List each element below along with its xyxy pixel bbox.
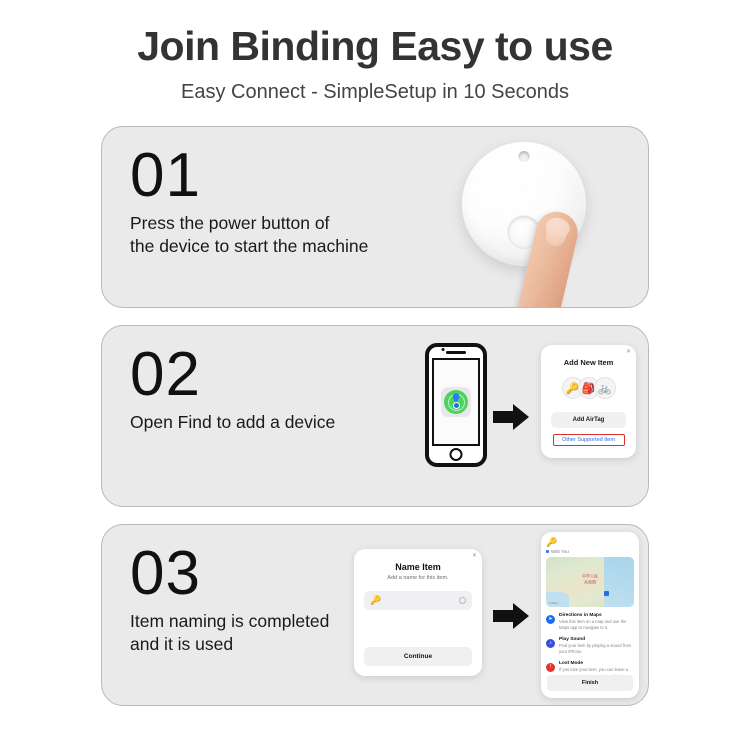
front-camera-icon — [442, 348, 445, 351]
page-title: Join Binding Easy to use — [0, 24, 750, 69]
step-card-03: 03 Item naming is completed and it is us… — [101, 524, 649, 706]
step-description: Press the power button of the device to … — [130, 212, 430, 258]
key-icon: 🔑 — [546, 538, 634, 547]
step-number: 01 — [130, 143, 430, 208]
find-app-illustration: ✕ Add New Item 🔑 🎒 🚲 Add AirTag Other Su… — [419, 326, 644, 507]
fingernail — [544, 220, 569, 248]
item-type-icons: 🔑 🎒 🚲 — [549, 377, 628, 399]
finish-button[interactable]: Finish — [547, 675, 633, 691]
item-detail-panel: 🔑 With You 中华人民 共和国 1000km ➤ Directions … — [541, 532, 639, 698]
phone-screen — [432, 358, 480, 446]
close-icon[interactable]: ✕ — [626, 349, 631, 355]
feature-name: Lost Mode — [559, 661, 634, 666]
name-item-dialog: ✕ Name Item Add a name for this item. 🔑 … — [354, 549, 482, 676]
dialog-title: Add New Item — [549, 358, 628, 367]
continue-button[interactable]: Continue — [364, 647, 472, 666]
tracker-illustration — [442, 127, 642, 308]
radar-graphic — [444, 390, 468, 414]
add-airtag-button[interactable]: Add AirTag — [551, 412, 626, 428]
tracker-gloss — [480, 152, 552, 194]
bicycle-icon: 🚲 — [594, 377, 616, 399]
map-preview[interactable]: 中华人民 共和国 1000km — [546, 557, 634, 607]
home-button-icon[interactable] — [450, 448, 463, 461]
feature-name: Play Sound — [559, 637, 634, 642]
play-sound-icon: ♪ — [546, 639, 555, 648]
page-header: Join Binding Easy to use Easy Connect - … — [0, 0, 750, 104]
step-card-01-text: 01 Press the power button of the device … — [130, 143, 430, 258]
status-dot-icon — [546, 550, 549, 553]
dialog-subtitle: Add a name for this item. — [364, 575, 472, 581]
map-sea — [604, 557, 634, 607]
step-card-02-text: 02 Open Find to add a device — [130, 342, 430, 434]
feature-name: Directions in Maps — [559, 613, 634, 618]
map-scale-label: 1000km — [549, 602, 558, 605]
feature-description: Find your item by playing a sound from y… — [559, 643, 634, 655]
lost-mode-icon: ! — [546, 663, 555, 672]
step-card-01: 01 Press the power button of the device … — [101, 126, 649, 308]
status-label: With You — [551, 549, 569, 554]
feature-row-play-sound[interactable]: ♪ Play Sound Find your item by playing a… — [546, 637, 634, 655]
clear-circle-icon[interactable] — [459, 597, 466, 604]
tracker-keyring-hole-icon — [519, 151, 530, 162]
iphone-mockup — [425, 343, 487, 467]
key-icon: 🔑 — [370, 595, 381, 606]
naming-illustration: ✕ Name Item Add a name for this item. 🔑 … — [354, 525, 644, 706]
add-new-item-dialog: ✕ Add New Item 🔑 🎒 🚲 Add AirTag Other Su… — [541, 345, 636, 458]
step-card-02: 02 Open Find to add a device — [101, 325, 649, 507]
feature-row-directions[interactable]: ➤ Directions in Maps View this item on a… — [546, 613, 634, 631]
directions-icon: ➤ — [546, 615, 555, 624]
page-subtitle: Easy Connect - SimpleSetup in 10 Seconds — [0, 81, 750, 104]
step-number: 02 — [130, 342, 430, 407]
map-region-label: 中华人民 共和国 — [582, 574, 598, 585]
find-my-icon[interactable] — [441, 387, 471, 417]
item-name-input[interactable]: 🔑 — [364, 591, 472, 610]
feature-description: View this item on a map and use the Maps… — [559, 619, 634, 631]
dialog-title: Name Item — [364, 562, 472, 572]
close-icon[interactable]: ✕ — [472, 553, 477, 559]
earpiece-speaker-icon — [446, 351, 466, 354]
step-description: Open Find to add a device — [130, 411, 430, 434]
steps-list: 01 Press the power button of the device … — [0, 126, 750, 706]
map-location-pin-icon — [604, 591, 609, 596]
item-status: With You — [546, 549, 634, 554]
radar-center-dot — [453, 402, 460, 409]
other-supported-item-link[interactable]: Other Supported Item — [553, 434, 625, 446]
